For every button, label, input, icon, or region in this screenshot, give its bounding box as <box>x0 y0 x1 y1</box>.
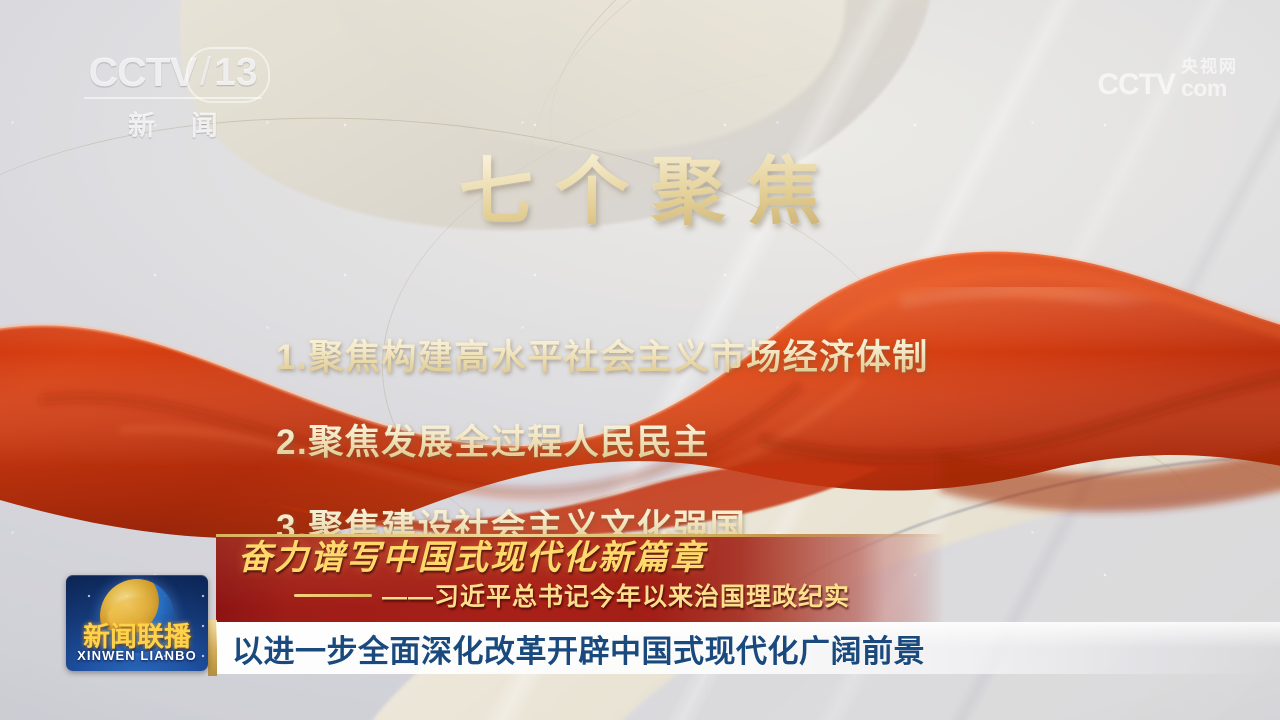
focus-points-list: 1.聚焦构建高水平社会主义市场经济体制 2.聚焦发展全过程人民民主 3.聚焦建设… <box>276 312 1216 567</box>
banner-subheadline: ——习近平总书记今年以来治国理政纪实 <box>382 580 850 614</box>
channel-logo-cctv13: CCTV / 13 新 闻 <box>78 52 268 143</box>
cctv-wordmark: CCTV <box>88 52 196 93</box>
lower-third-ticker-bar: 以进一步全面深化改革开辟中国式现代化广阔前景 <box>216 622 1280 674</box>
main-title: 七个聚焦 <box>0 148 1280 237</box>
watermark-cctv-text: CCTV <box>1097 70 1175 100</box>
banner-headline: 奋力谱写中国式现代化新篇章 <box>238 537 706 581</box>
watermark-com-text: com <box>1181 77 1238 100</box>
channel-logo-subtitle: 新 闻 <box>78 104 268 143</box>
watermark-cn-text: 央视网 <box>1181 58 1238 75</box>
program-logo-xinwen-lianbo: 新闻联播 XINWEN LIANBO <box>66 575 208 671</box>
broadcast-frame: CCTV / 13 新 闻 CCTV 央视网 com 七个聚焦 1.聚焦构建高水… <box>0 0 1280 720</box>
lower-third-red-banner: 奋力谱写中国式现代化新篇章 ——习近平总书记今年以来治国理政纪实 <box>216 534 944 622</box>
banner-subheadline-rule <box>294 594 372 597</box>
watermark-right-group: 央视网 com <box>1181 58 1238 100</box>
list-item: 1.聚焦构建高水平社会主义市场经济体制 <box>276 312 1216 397</box>
list-item: 2.聚焦发展全过程人民民主 <box>276 397 1216 482</box>
cctv-com-watermark: CCTV 央视网 com <box>1097 58 1238 100</box>
channel-number-oval-icon <box>186 47 270 103</box>
ticker-headline: 以进一步全面深化改革开辟中国式现代化广阔前景 <box>232 622 925 674</box>
program-logo-en-text: XINWEN LIANBO <box>66 648 208 663</box>
